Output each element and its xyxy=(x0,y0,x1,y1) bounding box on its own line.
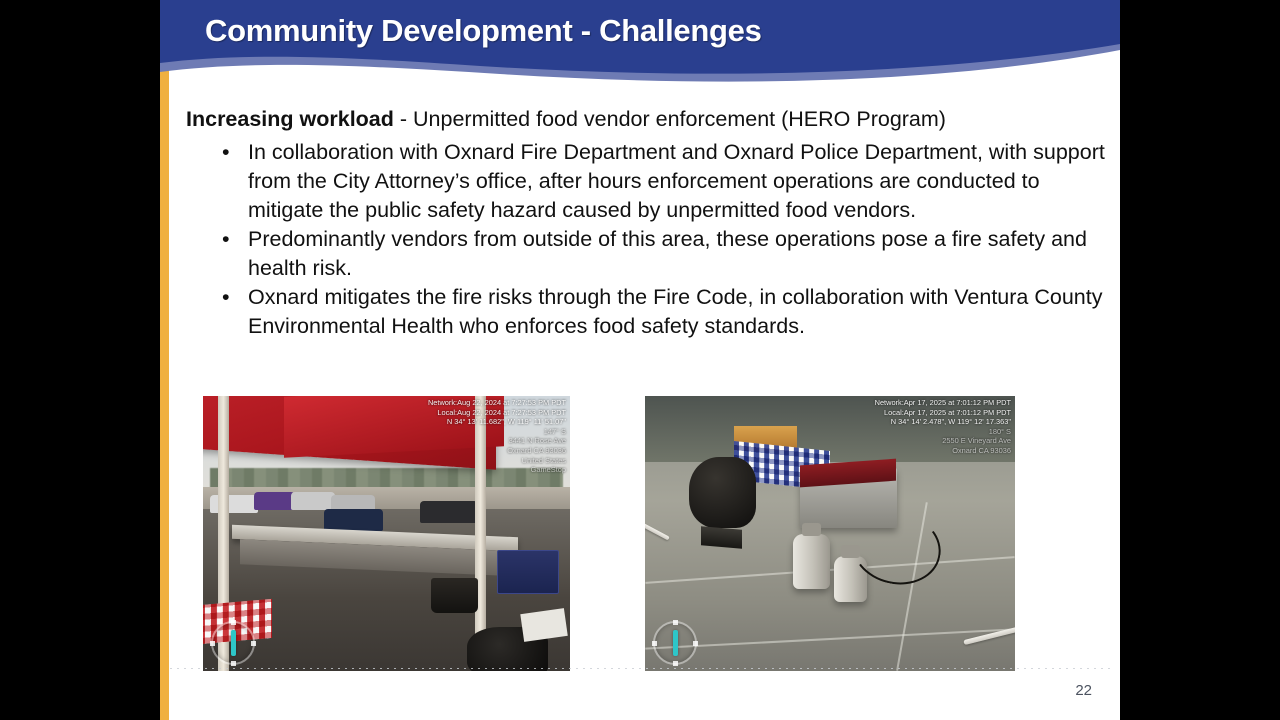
bullet-marker-icon: • xyxy=(222,225,230,254)
compass-tick-east xyxy=(693,641,698,646)
bullet-marker-icon: • xyxy=(222,283,230,312)
propane-tank-valve xyxy=(802,523,821,537)
screenshot-stage: Community Development - Challenges Incre… xyxy=(0,0,1280,720)
slide-header-banner: Community Development - Challenges xyxy=(160,0,1120,96)
parked-car xyxy=(254,492,294,510)
photo-scene xyxy=(645,396,1015,671)
list-item-text: In collaboration with Oxnard Fire Depart… xyxy=(248,140,1105,222)
blue-crate xyxy=(497,550,559,594)
photo-unpermitted-vendor-rose-ave: Network:Aug 22, 2024 at 7:27:53 PM PDT L… xyxy=(203,396,570,671)
compass-tick-north xyxy=(231,620,236,625)
page-title: Community Development - Challenges xyxy=(205,13,1085,49)
lead-bold-label: Increasing workload xyxy=(186,107,394,131)
paper-sheet xyxy=(521,608,568,641)
list-item-text: Predominantly vendors from outside of th… xyxy=(248,227,1087,280)
photo-scene xyxy=(203,396,570,671)
bullet-marker-icon: • xyxy=(222,138,230,167)
parked-car xyxy=(291,492,335,510)
footer-divider xyxy=(170,668,1110,669)
propane-tank xyxy=(793,534,830,589)
list-item: • Predominantly vendors from outside of … xyxy=(200,225,1116,283)
photo-unpermitted-vendor-vineyard-ave: Network:Apr 17, 2025 at 7:01:12 PM PDT L… xyxy=(645,396,1015,671)
lead-rest-label: - Unpermitted food vendor enforcement (H… xyxy=(394,107,946,131)
lead-paragraph: Increasing workload - Unpermitted food v… xyxy=(186,106,1086,133)
bullet-list: • In collaboration with Oxnard Fire Depa… xyxy=(200,138,1116,341)
compass-tick-north xyxy=(673,620,678,625)
page-number: 22 xyxy=(1075,682,1092,699)
metal-tray xyxy=(701,526,742,549)
compass-needle-icon xyxy=(673,630,678,656)
presentation-slide: Community Development - Challenges Incre… xyxy=(160,0,1120,720)
compass-tick-west xyxy=(652,641,657,646)
list-item-text: Oxnard mitigates the fire risks through … xyxy=(248,285,1102,338)
compass-tick-east xyxy=(251,641,256,646)
compass-rosette-icon xyxy=(211,621,255,665)
slide-body: Increasing workload - Unpermitted food v… xyxy=(160,96,1120,720)
compass-rosette-icon xyxy=(653,621,697,665)
list-item: • Oxnard mitigates the fire risks throug… xyxy=(200,283,1116,341)
compass-needle-icon xyxy=(231,630,236,656)
parked-car xyxy=(420,501,479,523)
compass-tick-west xyxy=(210,641,215,646)
compass-tick-south xyxy=(673,661,678,666)
compass-tick-south xyxy=(231,661,236,666)
parked-car xyxy=(324,509,383,531)
black-bag-pile xyxy=(689,457,756,529)
list-item: • In collaboration with Oxnard Fire Depa… xyxy=(200,138,1116,225)
black-bin xyxy=(431,578,479,614)
